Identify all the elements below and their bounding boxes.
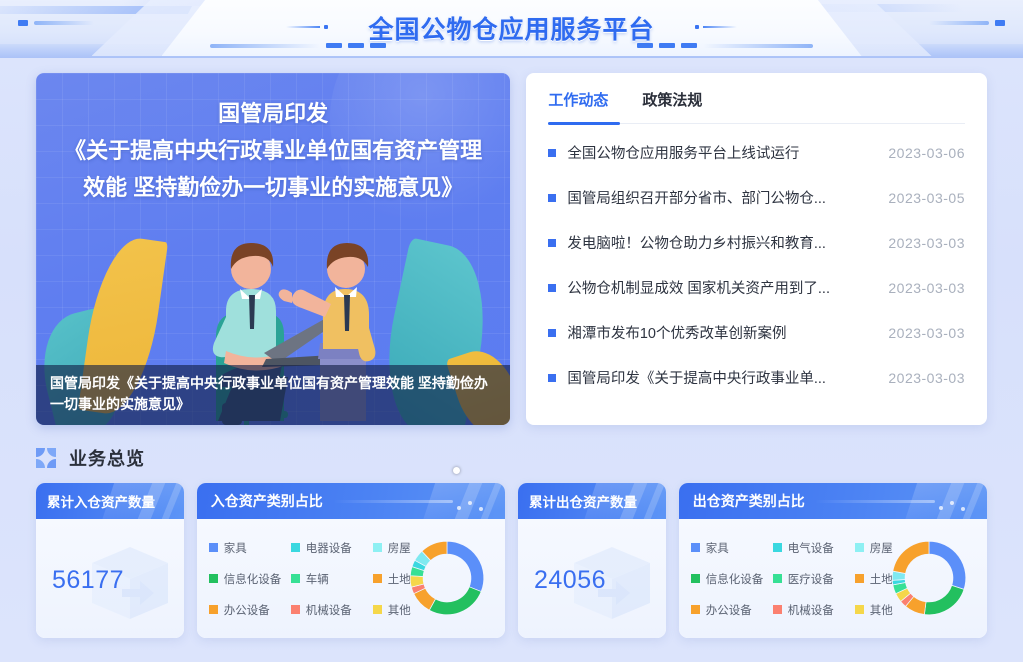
main-content: 国管局印发 《关于提高中央行政事业单位国有资产管理 效能 坚持勤俭办一切事业的实… [0, 73, 1023, 638]
card-header-label: 入仓资产类别占比 [211, 491, 323, 511]
legend-swatch [773, 543, 782, 552]
donut-slice-家具 [447, 541, 484, 591]
legend-item: 车辆 [291, 571, 373, 587]
news-list-item[interactable]: 湘潭市发布10个优秀改革创新案例 2023-03-03 [548, 310, 965, 355]
news-list-item[interactable]: 发电脑啦！公物仓助力乡村振兴和教育... 2023-03-03 [548, 220, 965, 265]
legend-swatch [373, 574, 382, 583]
legend-item: 办公设备 [209, 602, 291, 618]
card-cumulative-out-count: 累计出仓资产数量 24056 [518, 483, 666, 638]
news-item-date: 2023-03-03 [888, 280, 965, 296]
news-item-title: 全国公物仓应用服务平台上线试运行 [567, 142, 888, 163]
section-header-overview: 业务总览 [36, 445, 987, 471]
news-item-title: 湘潭市发布10个优秀改革创新案例 [567, 322, 888, 343]
legend-item: 电器设备 [291, 540, 373, 556]
legend-item: 机械设备 [773, 602, 855, 618]
news-item-title: 公物仓机制显成效 国家机关资产用到了... [567, 277, 888, 298]
banner-headline-line: 《关于提高中央行政事业单位国有资产管理 [62, 132, 484, 169]
bullet-square-icon [548, 194, 556, 202]
bullet-square-icon [548, 329, 556, 337]
donut-slice-信息化设备 [924, 585, 964, 614]
legend-swatch [291, 605, 300, 614]
bullet-square-icon [548, 149, 556, 157]
app-header: 全国公物仓应用服务平台 [0, 0, 1023, 58]
news-list-item[interactable]: 国管局组织召开部分省市、部门公物仓... 2023-03-05 [548, 175, 965, 220]
legend-swatch [855, 574, 864, 583]
banner-headline: 国管局印发 《关于提高中央行政事业单位国有资产管理 效能 坚持勤俭办一切事业的实… [62, 95, 484, 206]
legend-label: 车辆 [306, 571, 329, 587]
donut-slice-信息化设备 [429, 587, 481, 615]
chart-legend: 家具 电气设备 房屋 信息化设备 医疗设备 土地 办公设备 机械设备 其他 [691, 532, 913, 625]
legend-swatch [209, 574, 218, 583]
news-item-date: 2023-03-05 [888, 190, 965, 206]
page-root: 全国公物仓应用服务平台 国管局印发 《关于提高中央行政事业单位国有资产管理 效能… [0, 0, 1023, 662]
legend-swatch [773, 605, 782, 614]
legend-swatch [291, 574, 300, 583]
card-header: 入仓资产类别占比 [197, 483, 505, 519]
news-list-item[interactable]: 公物仓机制显成效 国家机关资产用到了... 2023-03-03 [548, 265, 965, 310]
legend-label: 医疗设备 [788, 571, 834, 587]
news-tab-underline [548, 123, 965, 124]
legend-swatch [691, 543, 700, 552]
section-title: 业务总览 [69, 445, 145, 471]
card-header: 累计出仓资产数量 [518, 483, 666, 519]
banner-headline-line: 国管局印发 [62, 95, 484, 132]
card-in-category-share: 入仓资产类别占比 家具 电器设备 房屋 信息化设备 车辆 土地 办公设备 机械设… [197, 483, 505, 638]
donut-chart-svg [883, 532, 975, 624]
news-item-date: 2023-03-06 [888, 145, 965, 161]
legend-swatch [691, 574, 700, 583]
tab-policies[interactable]: 政策法规 [642, 89, 702, 112]
legend-label: 信息化设备 [706, 571, 764, 587]
banner-caption: 国管局印发《关于提高中央行政事业单位国有资产管理效能 坚持勤俭办一切事业的实施意… [36, 365, 510, 425]
tab-work-updates[interactable]: 工作动态 [548, 89, 608, 112]
news-item-title: 发电脑啦！公物仓助力乡村振兴和教育... [567, 232, 888, 253]
legend-swatch [373, 605, 382, 614]
card-body: 家具 电气设备 房屋 信息化设备 医疗设备 土地 办公设备 机械设备 其他 [679, 519, 987, 638]
bullet-square-icon [548, 374, 556, 382]
card-header-label: 出仓资产类别占比 [693, 491, 805, 511]
stat-value: 24056 [534, 566, 606, 595]
news-carousel[interactable]: 国管局印发 《关于提高中央行政事业单位国有资产管理 效能 坚持勤俭办一切事业的实… [36, 73, 510, 425]
news-panel: 工作动态 政策法规 全国公物仓应用服务平台上线试运行 2023-03-06 国管… [526, 73, 987, 425]
news-item-date: 2023-03-03 [888, 325, 965, 341]
card-body: 56177 [36, 519, 184, 638]
card-header: 出仓资产类别占比 [679, 483, 987, 519]
bullet-square-icon [548, 239, 556, 247]
legend-label: 办公设备 [706, 602, 752, 618]
legend-item: 家具 [209, 540, 291, 556]
legend-label: 信息化设备 [224, 571, 282, 587]
donut-chart-in [401, 532, 493, 624]
legend-swatch [291, 543, 300, 552]
news-list-item[interactable]: 国管局印发《关于提高中央行政事业单... 2023-03-03 [548, 355, 965, 400]
legend-item: 机械设备 [291, 602, 373, 618]
card-body: 24056 [518, 519, 666, 638]
legend-swatch [209, 605, 218, 614]
stat-value: 56177 [52, 566, 124, 595]
card-body: 家具 电器设备 房屋 信息化设备 车辆 土地 办公设备 机械设备 其他 [197, 519, 505, 638]
news-tabs: 工作动态 政策法规 [548, 89, 965, 123]
carousel-indicator-dot[interactable] [453, 467, 460, 474]
news-item-date: 2023-03-03 [888, 370, 965, 386]
legend-item: 家具 [691, 540, 773, 556]
legend-label: 机械设备 [306, 602, 352, 618]
card-cumulative-in-count: 累计入仓资产数量 56177 [36, 483, 184, 638]
legend-item: 电气设备 [773, 540, 855, 556]
legend-label: 机械设备 [788, 602, 834, 618]
legend-swatch [855, 543, 864, 552]
bullet-square-icon [548, 284, 556, 292]
chart-legend: 家具 电器设备 房屋 信息化设备 车辆 土地 办公设备 机械设备 其他 [209, 532, 431, 625]
donut-slice-土地 [893, 541, 929, 573]
legend-label: 家具 [706, 540, 729, 556]
legend-item: 信息化设备 [209, 571, 291, 587]
top-row: 国管局印发 《关于提高中央行政事业单位国有资产管理 效能 坚持勤俭办一切事业的实… [36, 73, 987, 425]
news-item-date: 2023-03-03 [888, 235, 965, 251]
legend-swatch [691, 605, 700, 614]
legend-label: 电器设备 [306, 540, 352, 556]
donut-chart-out [883, 532, 975, 624]
banner-headline-line: 效能 坚持勤俭办一切事业的实施意见》 [62, 169, 484, 206]
legend-label: 电气设备 [788, 540, 834, 556]
legend-swatch [209, 543, 218, 552]
legend-item: 办公设备 [691, 602, 773, 618]
news-item-title: 国管局印发《关于提高中央行政事业单... [567, 367, 888, 388]
news-item-title: 国管局组织召开部分省市、部门公物仓... [567, 187, 888, 208]
legend-label: 家具 [224, 540, 247, 556]
overview-cards-row: 累计入仓资产数量 56177 [36, 483, 987, 638]
legend-label: 办公设备 [224, 602, 270, 618]
legend-swatch [773, 574, 782, 583]
card-out-category-share: 出仓资产类别占比 家具 电气设备 房屋 信息化设备 医疗设备 土地 办公设备 机… [679, 483, 987, 638]
legend-swatch [373, 543, 382, 552]
news-list-item[interactable]: 全国公物仓应用服务平台上线试运行 2023-03-06 [548, 130, 965, 175]
legend-swatch [855, 605, 864, 614]
legend-item: 信息化设备 [691, 571, 773, 587]
donut-chart-svg [401, 532, 493, 624]
four-diamond-icon [36, 448, 56, 468]
legend-item: 医疗设备 [773, 571, 855, 587]
card-header: 累计入仓资产数量 [36, 483, 184, 519]
donut-slice-家具 [929, 541, 966, 589]
page-title: 全国公物仓应用服务平台 [0, 10, 1023, 46]
news-list: 全国公物仓应用服务平台上线试运行 2023-03-06 国管局组织召开部分省市、… [548, 130, 965, 400]
